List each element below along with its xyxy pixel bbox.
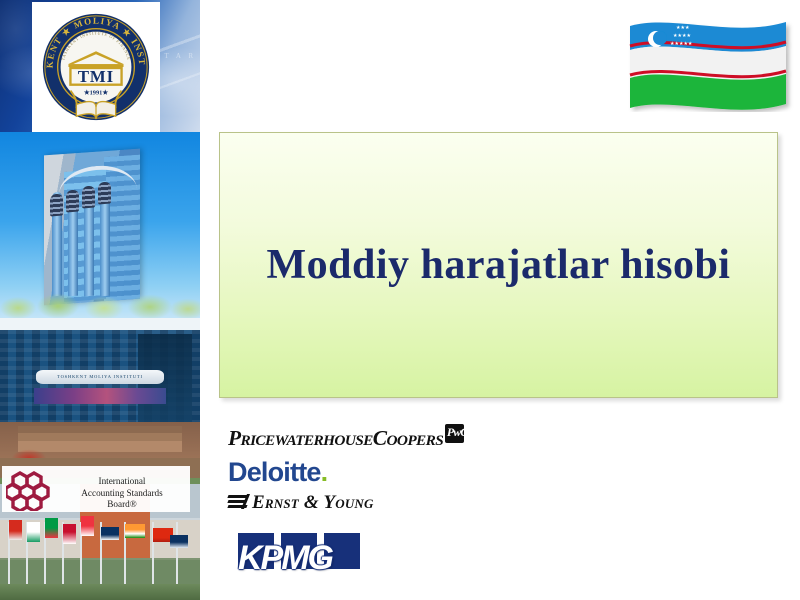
ey-bars-icon: [228, 494, 247, 509]
ghost-text: T A R: [164, 52, 196, 60]
emblem-card: TOSHKENT ★ MOLIYA ★ INSTITUTI TASHKENT I…: [32, 2, 160, 132]
pwc-monogram-icon: PwC: [445, 424, 464, 443]
deloitte-logo: Deloitte.: [228, 456, 558, 488]
flag-row: [0, 500, 200, 600]
iasb-line-2: Accounting Standards: [58, 488, 186, 500]
facade-banner: [34, 388, 166, 404]
presentation-slide: T A R TOSHKENT ★ MOLIYA ★ INSTITUTI: [0, 0, 800, 600]
uzbekistan-flag: ★★★ ★★★★ ★★★★★: [622, 12, 794, 112]
iasb-line-1: International: [58, 476, 186, 488]
svg-text:TMI: TMI: [78, 67, 114, 86]
building-sign: TOSHKENT MOLIYA INSTITUTI: [36, 370, 164, 384]
iasb-flags-photo: International Accounting Standards Board…: [0, 458, 200, 600]
svg-text:★★★★: ★★★★: [673, 33, 691, 39]
building-sign-text: TOSHKENT MOLIYA INSTITUTI: [36, 370, 164, 384]
left-image-strip: T A R TOSHKENT ★ MOLIYA ★ INSTITUTI: [0, 0, 200, 600]
pwc-wordmark: PricewaterhouseCoopers: [228, 425, 443, 451]
ernst-young-logo: Ernst & Young: [228, 492, 558, 518]
slide-title: Moddiy harajatlar hisobi: [267, 241, 731, 289]
deloitte-dot: .: [321, 457, 328, 487]
iasb-hexagon-icon: [6, 469, 56, 511]
slide-title-box: Moddiy harajatlar hisobi: [219, 132, 778, 398]
blue-glass-tower-photo: [0, 132, 200, 330]
institute-facade-photo: TOSHKENT MOLIYA INSTITUTI: [0, 330, 200, 458]
pricewaterhousecoopers-logo: PricewaterhouseCoopersPwC: [228, 424, 558, 450]
kpmg-wordmark: KPMG: [238, 540, 378, 576]
tmi-emblem-photo: T A R TOSHKENT ★ MOLIYA ★ INSTITUTI: [0, 0, 200, 132]
deloitte-wordmark: Deloitte: [228, 457, 321, 487]
svg-text:★★★: ★★★: [676, 25, 690, 31]
iasb-line-3: Board®: [58, 499, 186, 511]
svg-text:★1991★: ★1991★: [83, 90, 108, 97]
audit-firm-logos: PricewaterhouseCoopersPwC Deloitte. Erns…: [228, 424, 558, 518]
ey-wordmark: Ernst & Young: [252, 492, 374, 513]
pwc-monogram-text: PwC: [447, 425, 467, 440]
red-canopy: [6, 446, 52, 458]
kpmg-logo: KPMG: [238, 533, 378, 577]
foreground-trees: [0, 286, 200, 322]
iasb-logo-card: International Accounting Standards Board…: [2, 466, 190, 512]
tmi-crest-icon: TOSHKENT ★ MOLIYA ★ INSTITUTI TASHKENT I…: [37, 8, 155, 126]
svg-text:★★★★★: ★★★★★: [670, 41, 693, 47]
iasb-logo-text: International Accounting Standards Board…: [58, 476, 186, 511]
